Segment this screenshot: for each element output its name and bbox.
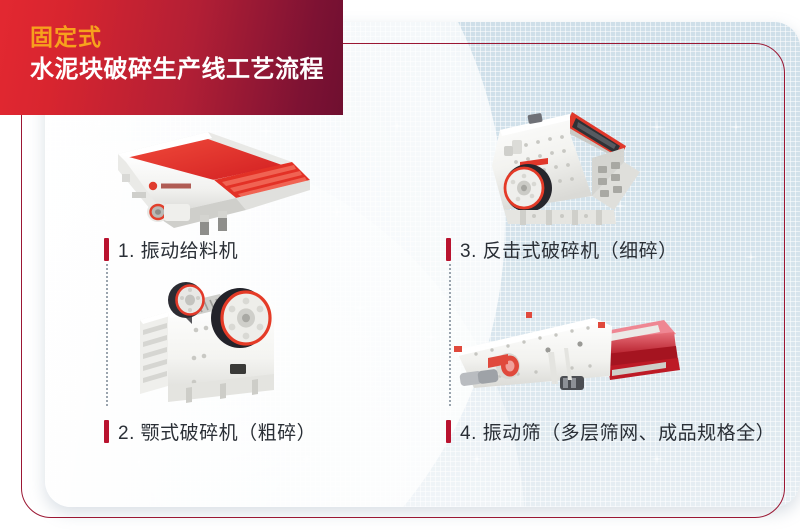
banner-title: 水泥块破碎生产线工艺流程 [30,58,324,82]
banner-subtitle: 固定式 [30,26,102,49]
poster-canvas: 1. 振动给料机 [0,0,800,530]
title-banner: 固定式 水泥块破碎生产线工艺流程 [0,0,343,115]
